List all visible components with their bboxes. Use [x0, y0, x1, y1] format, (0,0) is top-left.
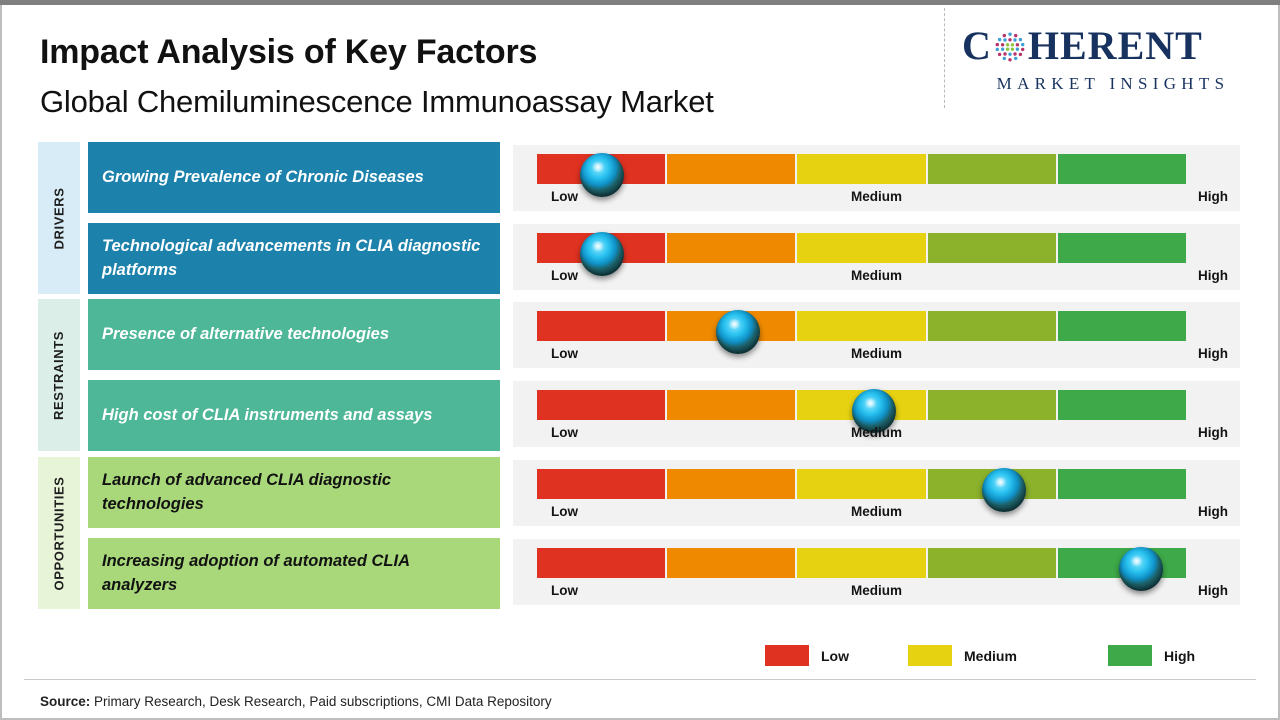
- infographic-page: Impact Analysis of Key Factors Global Ch…: [0, 0, 1280, 720]
- scale-segment-2: [667, 548, 797, 578]
- scale-segment-1: [537, 469, 667, 499]
- scale-segment-1: [537, 390, 667, 420]
- legend-label-medium: Medium: [964, 648, 1017, 664]
- top-border: [0, 0, 1280, 5]
- scale-segment-4: [928, 548, 1058, 578]
- legend-swatch-high: [1108, 645, 1152, 666]
- scale-segment-2: [667, 233, 797, 263]
- legend-label-high: High: [1164, 648, 1195, 664]
- impact-gauge-row: Low Medium High: [513, 224, 1240, 290]
- scale-label-high: High: [1198, 268, 1228, 283]
- source-text: Primary Research, Desk Research, Paid su…: [90, 694, 551, 709]
- impact-gauge-row: Low Medium High: [513, 460, 1240, 526]
- scale-segment-5: [1058, 311, 1186, 341]
- footer-divider: [24, 679, 1256, 680]
- logo-letter-c: C: [962, 22, 992, 69]
- scale-label-high: High: [1198, 504, 1228, 519]
- scale-label-medium: Medium: [513, 583, 1240, 598]
- scale-label-medium: Medium: [513, 346, 1240, 361]
- impact-gauge-row: Low Medium High: [513, 145, 1240, 211]
- scale-segment-2: [667, 469, 797, 499]
- legend-item-medium: Medium: [908, 645, 1017, 666]
- category-label-opportunities-text: OPPORTUNITIES: [52, 476, 67, 590]
- scale-label-medium: Medium: [513, 425, 1240, 440]
- factor-box[interactable]: High cost of CLIA instruments and assays: [88, 380, 500, 451]
- factor-label: High cost of CLIA instruments and assays: [102, 404, 432, 428]
- page-title: Impact Analysis of Key Factors: [40, 33, 537, 72]
- globe-dot-sphere-icon: [993, 27, 1027, 61]
- factor-box[interactable]: Growing Prevalence of Chronic Diseases: [88, 142, 500, 213]
- source-note: Source: Primary Research, Desk Research,…: [40, 694, 552, 709]
- page-subtitle: Global Chemiluminescence Immunoassay Mar…: [40, 84, 714, 120]
- impact-gauge-row: Low Medium High: [513, 381, 1240, 447]
- impact-gauge-row: Low Medium High: [513, 302, 1240, 368]
- scale-segment-3: [797, 311, 927, 341]
- impact-scale-bar[interactable]: [537, 548, 1186, 578]
- left-border: [0, 5, 2, 720]
- category-label-drivers: DRIVERS: [38, 142, 80, 294]
- factor-box[interactable]: Increasing adoption of automated CLIA an…: [88, 538, 500, 609]
- scale-segment-3: [797, 469, 927, 499]
- scale-segment-3: [797, 154, 927, 184]
- legend: Low Medium High: [760, 645, 1220, 669]
- legend-swatch-medium: [908, 645, 952, 666]
- scale-segment-5: [1058, 233, 1186, 263]
- impact-scale-bar[interactable]: [537, 154, 1186, 184]
- scale-segment-1: [537, 548, 667, 578]
- scale-segment-4: [928, 311, 1058, 341]
- legend-label-low: Low: [821, 648, 849, 664]
- impact-scale-bar[interactable]: [537, 311, 1186, 341]
- scale-segment-4: [928, 390, 1058, 420]
- impact-scale-bar[interactable]: [537, 469, 1186, 499]
- legend-item-low: Low: [765, 645, 849, 666]
- scale-segment-4: [928, 233, 1058, 263]
- scale-segment-5: [1058, 469, 1186, 499]
- scale-segment-5: [1058, 154, 1186, 184]
- source-label: Source:: [40, 694, 90, 709]
- scale-segment-1: [537, 311, 667, 341]
- scale-segment-2: [667, 154, 797, 184]
- logo-divider-dashed-line: [944, 8, 945, 108]
- factor-label: Presence of alternative technologies: [102, 323, 389, 347]
- scale-segment-2: [667, 390, 797, 420]
- factor-label: Technological advancements in CLIA diagn…: [102, 235, 486, 283]
- scale-segment-3: [797, 233, 927, 263]
- impact-gauge-row: Low Medium High: [513, 539, 1240, 605]
- impact-scale-bar[interactable]: [537, 233, 1186, 263]
- factor-box[interactable]: Launch of advanced CLIA diagnostic techn…: [88, 457, 500, 528]
- scale-label-high: High: [1198, 425, 1228, 440]
- factor-label: Increasing adoption of automated CLIA an…: [102, 550, 486, 598]
- logo-wordmark: C: [962, 22, 1262, 69]
- scale-label-high: High: [1198, 189, 1228, 204]
- scale-label-medium: Medium: [513, 268, 1240, 283]
- legend-item-high: High: [1108, 645, 1195, 666]
- category-label-opportunities: OPPORTUNITIES: [38, 457, 80, 609]
- category-label-restraints-text: RESTRAINTS: [52, 330, 67, 419]
- scale-label-high: High: [1198, 346, 1228, 361]
- logo-tagline: MARKET INSIGHTS: [964, 74, 1262, 94]
- category-label-restraints: RESTRAINTS: [38, 299, 80, 451]
- scale-segment-4: [928, 154, 1058, 184]
- factor-box[interactable]: Presence of alternative technologies: [88, 299, 500, 370]
- logo-letters-herent: HERENT: [1028, 22, 1203, 69]
- factor-box[interactable]: Technological advancements in CLIA diagn…: [88, 223, 500, 294]
- category-label-drivers-text: DRIVERS: [52, 187, 67, 249]
- scale-segment-3: [797, 548, 927, 578]
- factor-label: Launch of advanced CLIA diagnostic techn…: [102, 469, 486, 517]
- factor-label: Growing Prevalence of Chronic Diseases: [102, 166, 424, 190]
- scale-label-high: High: [1198, 583, 1228, 598]
- scale-label-medium: Medium: [513, 189, 1240, 204]
- company-logo: C: [962, 22, 1262, 100]
- legend-swatch-low: [765, 645, 809, 666]
- scale-label-medium: Medium: [513, 504, 1240, 519]
- scale-segment-5: [1058, 390, 1186, 420]
